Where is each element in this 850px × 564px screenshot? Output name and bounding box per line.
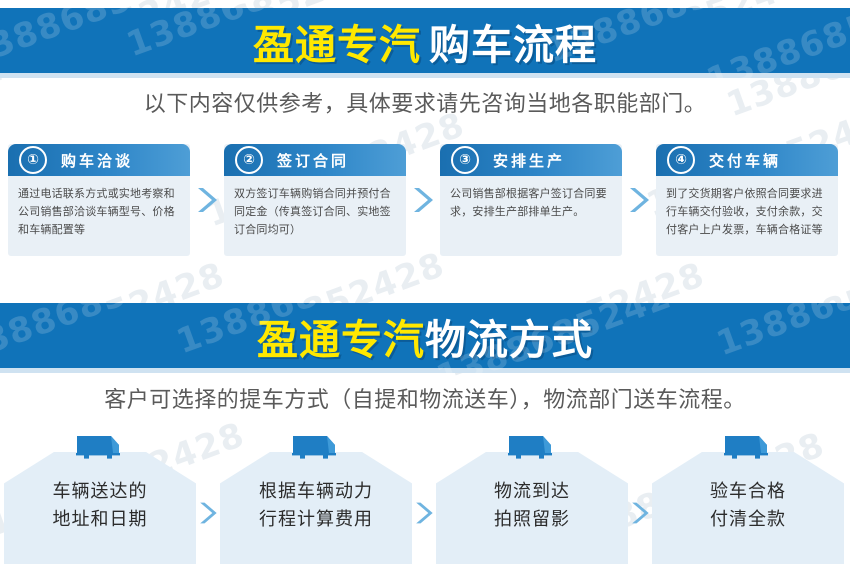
chevron-right-icon: [198, 500, 218, 526]
logistics-banner-underline: [0, 368, 850, 373]
logistics-card-3-line2: 拍照留影: [436, 506, 628, 534]
logistics-steps-row: 车辆送达的 地址和日期 根据车辆动力 行程计算费用: [4, 432, 846, 564]
logistics-banner-title: 盈通专汽 物流方式: [0, 303, 850, 368]
logistics-card-2-line2: 行程计算费用: [220, 506, 412, 534]
logistics-card-1-text: 车辆送达的 地址和日期: [4, 478, 196, 534]
logistics-card-2[interactable]: 根据车辆动力 行程计算费用: [220, 432, 412, 564]
purchase-subtitle: 以下内容仅供参考，具体要求请先咨询当地各职能部门。: [0, 86, 850, 118]
step-card-2[interactable]: ② 签订合同 双方签订车辆购销合同并预付合同定金（传真签订合同、实地签订合同均可…: [224, 144, 406, 256]
purchase-banner-title: 盈通专汽 购车流程: [0, 8, 850, 73]
logistics-chevron-3: [628, 432, 652, 564]
chevron-right-icon: [630, 500, 650, 526]
step-card-1-header: ① 购车洽谈: [8, 144, 190, 176]
step-chevron-2: [406, 144, 440, 256]
step-card-1-title: 购车洽谈: [61, 150, 133, 171]
logistics-card-4-line2: 付清全款: [652, 506, 844, 534]
truck-icon: [289, 432, 343, 462]
logistics-card-1[interactable]: 车辆送达的 地址和日期: [4, 432, 196, 564]
step-card-3-header: ③ 安排生产: [440, 144, 622, 176]
logistics-card-2-line1: 根据车辆动力: [220, 478, 412, 506]
step-card-3-title: 安排生产: [493, 150, 565, 171]
logistics-banner-title-rest: 物流方式: [425, 306, 593, 366]
purchase-banner: 13886852428 13886852428 13886852428 1388…: [0, 8, 850, 78]
step-card-3[interactable]: ③ 安排生产 公司销售部根据客户签订合同要求，安排生产部排单生产。: [440, 144, 622, 256]
purchase-banner-underline: [0, 73, 850, 78]
step-card-1[interactable]: ① 购车洽谈 通过电话联系方式或实地考察和公司销售部洽谈车辆型号、价格和车辆配置…: [8, 144, 190, 256]
logistics-card-3-text: 物流到达 拍照留影: [436, 478, 628, 534]
step-number-badge: ③: [451, 146, 479, 174]
truck-icon: [73, 432, 127, 462]
chevron-right-icon: [412, 185, 434, 215]
purchase-steps-row: ① 购车洽谈 通过电话联系方式或实地考察和公司销售部洽谈车辆型号、价格和车辆配置…: [8, 144, 842, 256]
logistics-card-4-line1: 验车合格: [652, 478, 844, 506]
step-card-4-title: 交付车辆: [709, 150, 781, 171]
purchase-banner-title-highlight: 盈通专汽: [253, 11, 421, 71]
step-card-3-body: 公司销售部根据客户签订合同要求，安排生产部排单生产。: [440, 176, 622, 221]
step-card-2-body: 双方签订车辆购销合同并预付合同定金（传真签订合同、实地签订合同均可）: [224, 176, 406, 239]
logistics-banner-title-highlight: 盈通专汽: [257, 306, 425, 366]
logistics-chevron-1: [196, 432, 220, 564]
logistics-card-1-line2: 地址和日期: [4, 506, 196, 534]
step-card-2-header: ② 签订合同: [224, 144, 406, 176]
purchase-banner-title-rest: 购车流程: [429, 11, 597, 71]
step-chevron-1: [190, 144, 224, 256]
logistics-card-3-line1: 物流到达: [436, 478, 628, 506]
logistics-card-4-text: 验车合格 付清全款: [652, 478, 844, 534]
step-card-1-body: 通过电话联系方式或实地考察和公司销售部洽谈车辆型号、价格和车辆配置等: [8, 176, 190, 239]
step-number-badge: ①: [19, 146, 47, 174]
logistics-card-4[interactable]: 验车合格 付清全款: [652, 432, 844, 564]
logistics-chevron-2: [412, 432, 436, 564]
chevron-right-icon: [196, 185, 218, 215]
step-card-4-header: ④ 交付车辆: [656, 144, 838, 176]
logistics-banner: 13886852428 13886852428 13886852428 1388…: [0, 303, 850, 373]
logistics-card-2-text: 根据车辆动力 行程计算费用: [220, 478, 412, 534]
chevron-right-icon: [414, 500, 434, 526]
step-card-2-title: 签订合同: [277, 150, 349, 171]
logistics-subtitle: 客户可选择的提车方式（自提和物流送车），物流部门送车流程。: [0, 382, 850, 414]
step-number-badge: ④: [667, 146, 695, 174]
step-card-4-body: 到了交货期客户依照合同要求进行车辆交付验收，支付余款，交付客户上户发票，车辆合格…: [656, 176, 838, 239]
step-chevron-3: [622, 144, 656, 256]
logistics-card-1-line1: 车辆送达的: [4, 478, 196, 506]
step-number-badge: ②: [235, 146, 263, 174]
infographic-page: 13886852428 13886852428 13886852428 1388…: [0, 0, 850, 564]
chevron-right-icon: [628, 185, 650, 215]
step-card-4[interactable]: ④ 交付车辆 到了交货期客户依照合同要求进行车辆交付验收，支付余款，交付客户上户…: [656, 144, 838, 256]
truck-icon: [505, 432, 559, 462]
truck-icon: [721, 432, 775, 462]
logistics-card-3[interactable]: 物流到达 拍照留影: [436, 432, 628, 564]
